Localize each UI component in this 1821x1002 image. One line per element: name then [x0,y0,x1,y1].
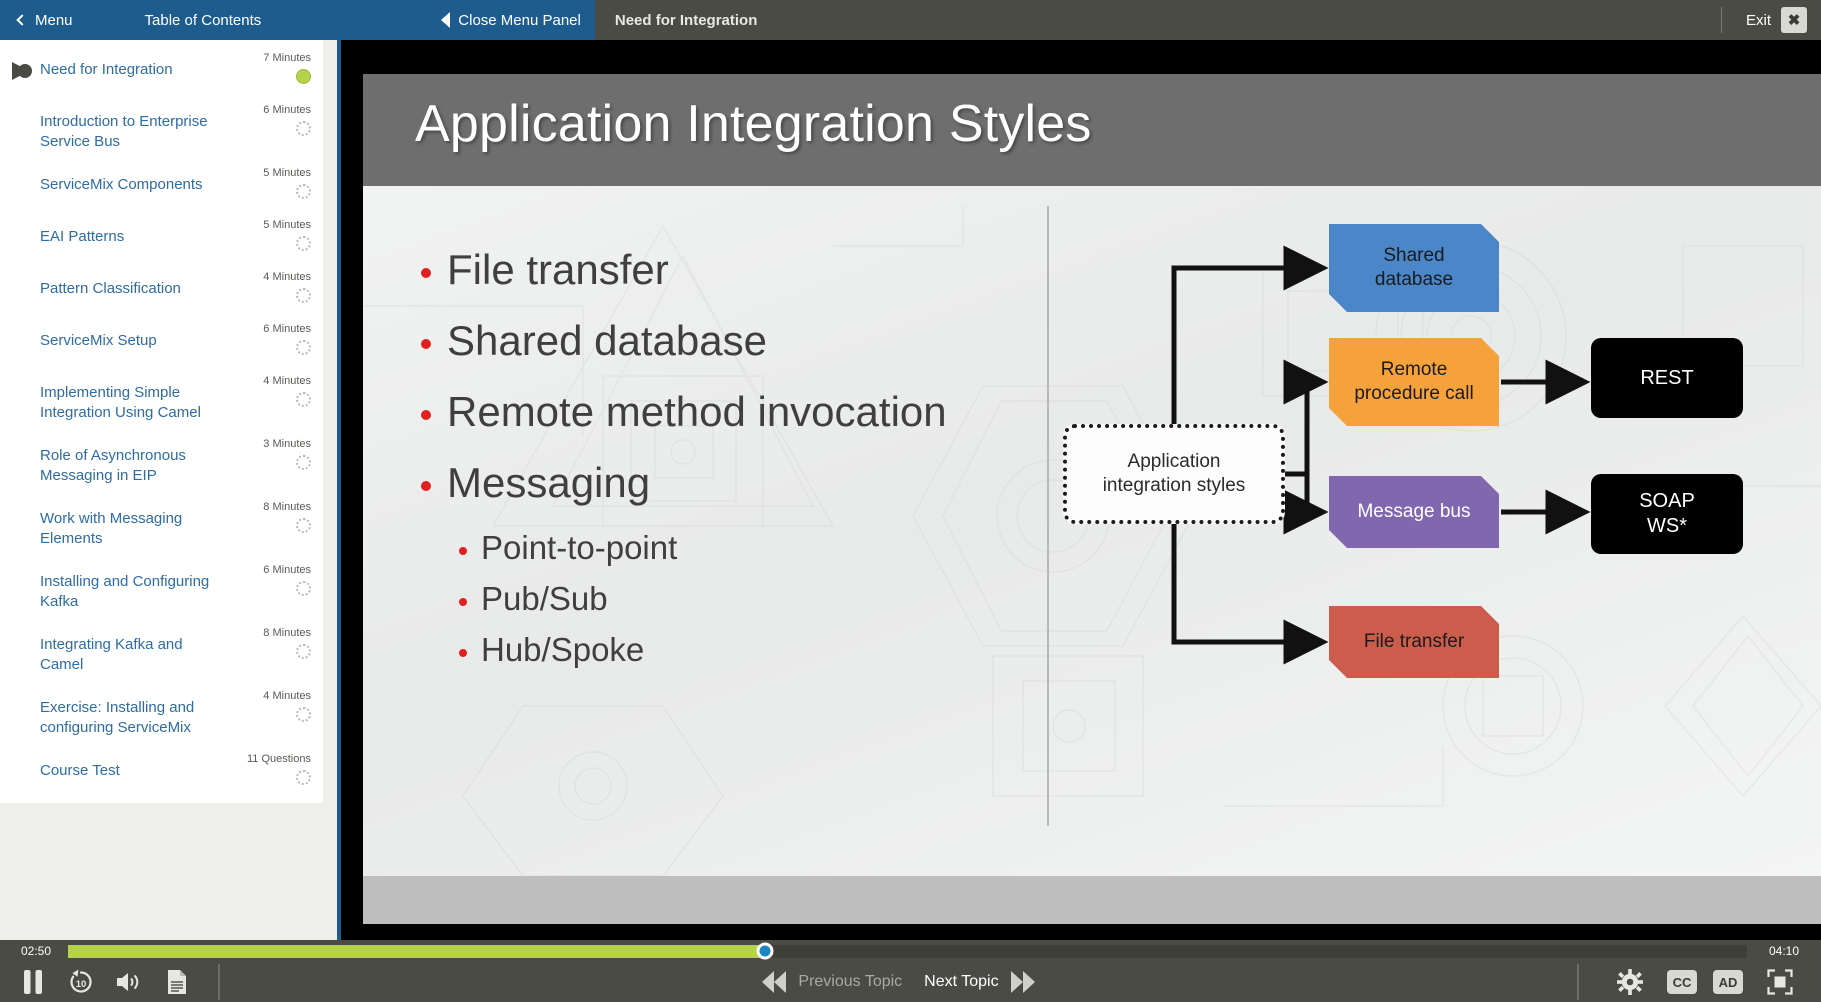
slide-stage: Application Integration Styles [345,40,1821,1002]
svg-text:10: 10 [76,979,87,990]
slide-bullet-4: Point-to-point [459,530,1061,567]
current-time: 02:50 [0,944,68,958]
exit-button[interactable]: Exit [1746,12,1771,29]
toc-item-status-indicator [296,69,311,84]
close-menu-panel-button[interactable]: Close Menu Panel [271,0,595,40]
toc-item-duration: 6 Minutes [263,564,311,576]
toc-item-status-indicator [296,770,311,785]
sidebar-scrollbar[interactable] [323,40,333,1002]
toc-item-label: ServiceMix Setup [40,323,232,351]
toc-item-meta: 5 Minutes [232,167,327,199]
toc-item-marker [0,690,40,700]
toc-item-duration: 4 Minutes [263,375,311,387]
transcript-button[interactable] [156,962,198,1002]
right-controls: CC AD [1563,962,1821,1002]
toc-item-duration: 8 Minutes [263,501,311,513]
toc-item-meta: 4 Minutes [232,375,327,407]
toc-item-status-indicator [296,644,311,659]
slide-bullet-0: File transfer [421,246,1061,293]
slide-bullet-5: Pub/Sub [459,581,1061,618]
toc-item-1[interactable]: Introduction to Enterprise Service Bus6 … [0,96,327,159]
fullscreen-button[interactable] [1759,962,1801,1002]
toc-item-status-indicator [296,707,311,722]
slide: Application Integration Styles [363,74,1821,924]
menu-button[interactable]: Menu [0,0,87,40]
bullet-dot-icon [421,339,431,349]
toc-item-label: Installing and Configuring Kafka [40,564,232,611]
toc-item-10[interactable]: Integrating Kafka and Camel8 Minutes [0,619,327,682]
diagram-node-message-bus: Message bus [1329,476,1499,548]
transcript-icon [166,969,188,995]
slide-bullet-text: Remote method invocation [447,388,947,435]
toc-item-duration: 5 Minutes [263,167,311,179]
toc-item-marker [0,438,40,448]
toc-item-marker [0,627,40,637]
toc-item-marker [0,167,40,177]
slide-bullet-6: Hub/Spoke [459,632,1061,669]
toc-item-meta: 4 Minutes [232,271,327,303]
toc-item-label: Work with Messaging Elements [40,501,232,548]
toc-item-duration: 4 Minutes [263,690,311,702]
toc-item-6[interactable]: Implementing Simple Integration Using Ca… [0,367,327,430]
left-controls: 10 [0,962,234,1002]
previous-topic-label: Previous Topic [798,973,902,991]
shared-database-line-1: Shared [1375,244,1453,268]
toc-item-meta: 3 Minutes [232,438,327,470]
diagram-node-shared-database: Shared database [1329,224,1499,312]
toc-item-status-indicator [296,455,311,470]
volume-icon [115,970,143,994]
diagram-node-rest: REST [1591,338,1743,418]
total-time: 04:10 [1747,944,1821,958]
rewind-10-button[interactable]: 10 [60,962,102,1002]
toc-item-5[interactable]: ServiceMix Setup6 Minutes [0,315,327,367]
toc-item-8[interactable]: Work with Messaging Elements8 Minutes [0,493,327,556]
vertical-divider [1047,206,1049,826]
bullet-list: File transferShared databaseRemote metho… [421,246,1061,683]
toc-item-label: Role of Asynchronous Messaging in EIP [40,438,232,485]
center-line-1: Application [1128,450,1221,474]
slide-bullet-text: Point-to-point [481,530,677,567]
toc-item-marker [0,219,40,229]
soap-line-2: WS* [1639,514,1695,539]
fullscreen-icon [1767,969,1793,995]
toc-item-status-indicator [296,581,311,596]
toc-item-marker [0,323,40,333]
slide-footer-band [363,876,1821,924]
bullet-dot-icon [459,598,467,606]
slide-bullet-text: Hub/Spoke [481,632,644,669]
triangle-left-icon [441,12,450,28]
chevron-left-icon [16,14,27,25]
toc-item-meta: 6 Minutes [232,104,327,136]
exit-zone: Exit ✖ [1721,0,1821,40]
seek-progress-fill [68,945,765,958]
toc-item-label: Exercise: Installing and configuring Ser… [40,690,232,737]
next-topic-label: Next Topic [924,973,998,991]
divider [1721,7,1722,33]
double-arrow-right-icon [1011,971,1035,993]
closed-captions-button[interactable]: CC [1667,970,1697,994]
settings-button[interactable] [1609,962,1651,1002]
toc-item-marker [0,564,40,574]
bullet-dot-icon [421,268,431,278]
pause-icon [22,969,44,995]
toc-item-meta: 11 Questions [232,753,327,785]
toc-item-label: EAI Patterns [40,219,232,247]
rpc-line-1: Remote [1354,358,1473,382]
toc-item-status-indicator [296,121,311,136]
file-transfer-label: File transfer [1364,630,1464,654]
rewind-10-icon: 10 [67,968,95,996]
toc-item-4[interactable]: Pattern Classification4 Minutes [0,263,327,315]
gear-icon [1617,969,1643,995]
slide-bullet-1: Shared database [421,317,1061,364]
toc-item-label: ServiceMix Components [40,167,232,195]
toc-item-marker [0,501,40,511]
diagram-node-remote-procedure-call: Remote procedure call [1329,338,1499,426]
toc-item-status-indicator [296,288,311,303]
rpc-line-2: procedure call [1354,382,1473,406]
toc-item-status-indicator [296,340,311,355]
toc-item-duration: 7 Minutes [263,52,311,64]
diagram-node-file-transfer: File transfer [1329,606,1499,678]
slide-title: Application Integration Styles [415,94,1092,154]
shared-database-line-2: database [1375,268,1453,292]
next-topic-button[interactable]: Next Topic [924,971,1034,993]
seek-row: 02:50 04:10 [0,940,1821,962]
previous-topic-button[interactable]: Previous Topic [762,971,902,993]
pause-button[interactable] [12,962,54,1002]
toc-item-marker [0,104,40,114]
divider [1577,964,1579,1000]
toc-item-duration: 6 Minutes [263,323,311,335]
current-topic-title: Need for Integration [595,0,1721,40]
toc-item-0[interactable]: Need for Integration7 Minutes [0,44,327,96]
diagram-node-center: Application integration styles [1063,424,1285,524]
slide-bullet-text: Messaging [447,459,650,506]
bullet-dot-icon [421,410,431,420]
toc-item-meta: 8 Minutes [232,501,327,533]
center-line-2: integration styles [1103,474,1246,498]
table-of-contents-title: Table of Contents [87,0,272,40]
seek-bar[interactable] [68,945,1747,958]
toc-item-marker [0,375,40,385]
slide-bullet-text: File transfer [447,246,669,293]
toc-item-duration: 4 Minutes [263,271,311,283]
toc-item-label: Implementing Simple Integration Using Ca… [40,375,232,422]
toc-item-status-indicator [296,392,311,407]
toc-item-label: Course Test [40,753,232,781]
diagram-node-soap-ws: SOAP WS* [1591,474,1743,554]
toc-item-status-indicator [296,236,311,251]
toc-item-meta: 6 Minutes [232,564,327,596]
toc-item-label: Pattern Classification [40,271,232,299]
toc-item-duration: 6 Minutes [263,104,311,116]
soap-line-1: SOAP [1639,489,1695,514]
slide-bullet-3: Messaging [421,459,1061,506]
topic-navigation: Previous Topic Next Topic [234,971,1563,993]
toc-item-duration: 11 Questions [247,753,311,765]
toc-item-duration: 5 Minutes [263,219,311,231]
toc-item-status-indicator [296,518,311,533]
toc-item-status-indicator [296,184,311,199]
seek-handle[interactable] [756,943,773,960]
slide-body: File transferShared databaseRemote metho… [363,186,1821,876]
toc-item-meta: 6 Minutes [232,323,327,355]
divider [218,964,220,1000]
volume-button[interactable] [108,962,150,1002]
table-of-contents-panel: Need for Integration7 MinutesIntroductio… [0,40,341,1002]
toc-item-12[interactable]: Course Test11 Questions [0,745,327,797]
toc-item-3[interactable]: EAI Patterns5 Minutes [0,211,327,263]
bullet-dot-icon [459,547,467,555]
slide-bullet-text: Pub/Sub [481,581,608,618]
double-arrow-left-icon [762,971,786,993]
toc-item-marker [0,271,40,281]
toc-item-duration: 8 Minutes [263,627,311,639]
message-bus-label: Message bus [1357,500,1470,524]
current-topic-pointer-icon [12,62,29,80]
player-bar: 02:50 04:10 10 [0,940,1821,1002]
top-bar: Menu Table of Contents Close Menu Panel … [0,0,1821,40]
toc-item-label: Need for Integration [40,52,232,80]
toc-item-meta: 5 Minutes [232,219,327,251]
toc-item-2[interactable]: ServiceMix Components5 Minutes [0,159,327,211]
toc-item-7[interactable]: Role of Asynchronous Messaging in EIP3 M… [0,430,327,493]
toc-item-marker [0,52,40,80]
close-icon[interactable]: ✖ [1781,7,1807,33]
toc-item-label: Integrating Kafka and Camel [40,627,232,674]
menu-button-label: Menu [35,12,73,29]
slide-bullet-2: Remote method invocation [421,388,1061,435]
toc-item-11[interactable]: Exercise: Installing and configuring Ser… [0,682,327,745]
audio-description-button[interactable]: AD [1713,970,1743,994]
close-menu-panel-label: Close Menu Panel [458,12,581,29]
toc-item-label: Introduction to Enterprise Service Bus [40,104,232,151]
toc-item-meta: 4 Minutes [232,690,327,722]
bullet-dot-icon [421,481,431,491]
toc-item-duration: 3 Minutes [263,438,311,450]
menu-panel-header: Menu Table of Contents Close Menu Panel [0,0,595,40]
toc-item-meta: 7 Minutes [232,52,327,84]
toc-list: Need for Integration7 MinutesIntroductio… [0,40,327,803]
integration-styles-diagram: Application integration styles Shared da… [1063,186,1821,876]
controls-row: 10 [0,962,1821,1002]
rest-label: REST [1640,366,1693,391]
bullet-dot-icon [459,649,467,657]
toc-item-meta: 8 Minutes [232,627,327,659]
toc-item-9[interactable]: Installing and Configuring Kafka6 Minute… [0,556,327,619]
slide-bullet-text: Shared database [447,317,767,364]
toc-item-marker [0,753,40,763]
